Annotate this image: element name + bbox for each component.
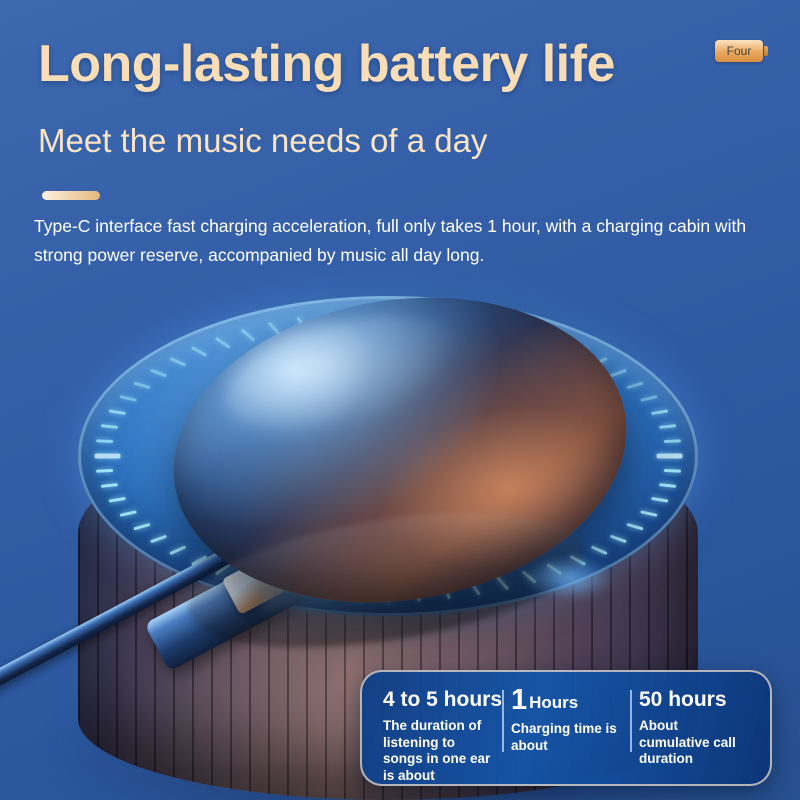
- stat-value-unit: Hours: [529, 693, 578, 712]
- stats-card: 4 to 5 hours The duration of listening t…: [360, 670, 772, 786]
- case-specular-dot: [524, 556, 614, 600]
- stat-item: 50 hours About cumulative call duration: [630, 688, 758, 768]
- battery-badge-label: Four: [727, 45, 752, 57]
- stat-item: 4 to 5 hours The duration of listening t…: [374, 688, 502, 784]
- stat-value: 4 to 5 hours: [383, 688, 493, 712]
- battery-badge: Four: [715, 40, 768, 62]
- page-subtitle: Meet the music needs of a day: [38, 122, 487, 160]
- stat-item: 1Hours Charging time is about: [502, 688, 630, 754]
- body-paragraph: Type-C interface fast charging accelerat…: [34, 212, 774, 270]
- stat-value-number: 1: [511, 684, 527, 716]
- stat-description: About cumulative call duration: [639, 718, 749, 768]
- accent-divider: [42, 191, 100, 200]
- battery-icon: Four: [715, 40, 763, 62]
- product-poster: Long-lasting battery life Meet the music…: [0, 0, 800, 800]
- battery-terminal-icon: [764, 46, 768, 56]
- page-title: Long-lasting battery life: [38, 34, 615, 94]
- stat-description: The duration of listening to songs in on…: [383, 718, 493, 784]
- stat-description: Charging time is about: [511, 721, 621, 754]
- stat-value: 50 hours: [639, 688, 749, 712]
- stat-value: 1Hours: [511, 688, 621, 715]
